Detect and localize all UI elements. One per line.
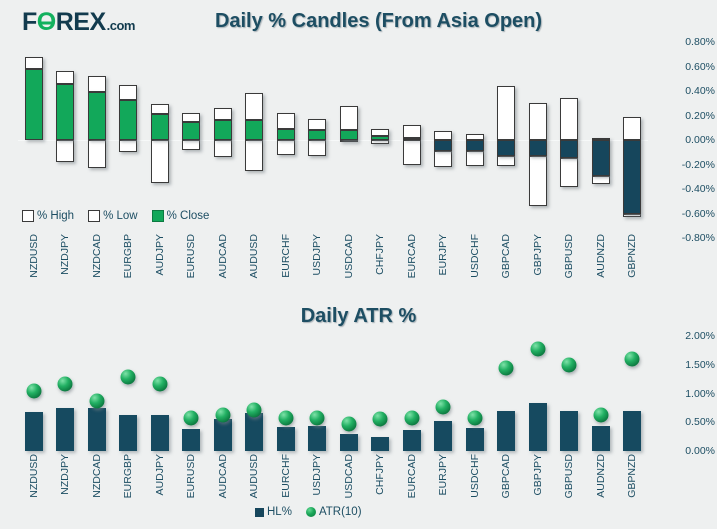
candle-high-segment xyxy=(25,57,43,69)
bottom-chart-title: Daily ATR % xyxy=(0,305,717,328)
candle-close-body xyxy=(560,140,578,158)
atr-marker xyxy=(467,410,482,425)
candle xyxy=(340,42,358,238)
candle-high-segment xyxy=(403,125,421,137)
candle-close-body xyxy=(497,140,515,156)
hl-percent-bar xyxy=(214,419,232,451)
hl-percent-bar xyxy=(466,428,484,451)
legend-swatch-icon xyxy=(306,507,316,517)
atr-marker xyxy=(26,384,41,399)
x-axis-tick-label: EURUSD xyxy=(185,234,197,278)
candle xyxy=(308,42,326,238)
hl-percent-bar xyxy=(277,427,295,451)
candle-low-segment xyxy=(182,140,200,150)
daily-percent-candles-plot xyxy=(18,42,648,238)
y-axis-tick-label: -0.80% xyxy=(682,232,715,244)
top-chart-x-axis: NZDUSDNZDJPYNZDCADEURGBPAUDJPYEURUSDAUDC… xyxy=(18,232,648,294)
candle-low-segment xyxy=(466,151,484,166)
legend-label: ATR(10) xyxy=(319,506,362,518)
candle-low-segment xyxy=(88,140,106,168)
top-chart-y-axis: 0.80%0.60%0.40%0.20%0.00%-0.20%-0.40%-0.… xyxy=(660,42,715,238)
candle-low-segment xyxy=(308,140,326,156)
candle-close-body xyxy=(371,136,389,140)
x-axis-tick-label: GBPUSD xyxy=(563,454,575,498)
candle xyxy=(88,42,106,238)
x-axis-tick-label: GBPJPY xyxy=(532,234,544,275)
candle-low-segment xyxy=(592,176,610,185)
atr-marker xyxy=(89,393,104,408)
x-axis-tick-label: GBPCAD xyxy=(500,454,512,498)
y-axis-tick-label: 0.60% xyxy=(685,61,715,73)
x-axis-tick-label: GBPJPY xyxy=(532,454,544,495)
candle-high-segment xyxy=(371,129,389,136)
y-axis-tick-label: 0.50% xyxy=(685,416,715,428)
candle-high-segment xyxy=(277,113,295,129)
x-axis-tick-label: USDCHF xyxy=(469,454,481,498)
y-axis-tick-label: 1.00% xyxy=(685,388,715,400)
legend-swatch-icon xyxy=(22,210,34,222)
candle-high-segment xyxy=(151,104,169,114)
x-axis-tick-label: NZDUSD xyxy=(28,454,40,498)
x-axis-tick-label: EURJPY xyxy=(437,234,449,275)
candle-close-body xyxy=(529,140,547,156)
candle-high-segment xyxy=(529,103,547,140)
x-axis-tick-label: GBPCAD xyxy=(500,234,512,278)
bottom-chart-y-axis: 2.00%1.50%1.00%0.50%0.00% xyxy=(660,336,715,451)
candle-close-body xyxy=(466,140,484,151)
legend-swatch-icon xyxy=(88,210,100,222)
hl-percent-bar xyxy=(340,434,358,451)
hl-percent-bar xyxy=(371,437,389,451)
legend-label: HL% xyxy=(267,506,292,518)
top-chart-legend: % High% Low% Close xyxy=(22,210,223,222)
candle-high-segment xyxy=(245,93,263,120)
y-axis-tick-label: 0.80% xyxy=(685,36,715,48)
hl-percent-bar xyxy=(151,415,169,451)
legend-item: % High xyxy=(22,210,74,222)
x-axis-tick-label: AUDCAD xyxy=(217,234,229,278)
candle-high-segment xyxy=(88,76,106,92)
atr-marker xyxy=(184,410,199,425)
x-axis-tick-label: USDJPY xyxy=(311,234,323,275)
legend-label: % Close xyxy=(167,210,210,222)
candle xyxy=(25,42,43,238)
hl-percent-bar xyxy=(560,411,578,451)
y-axis-tick-label: 1.50% xyxy=(685,359,715,371)
candle xyxy=(623,42,641,238)
candle xyxy=(56,42,74,238)
y-axis-tick-label: 0.20% xyxy=(685,110,715,122)
y-axis-tick-label: -0.60% xyxy=(682,208,715,220)
hl-percent-bar xyxy=(182,429,200,451)
x-axis-tick-label: EURCHF xyxy=(280,234,292,278)
candle-low-segment xyxy=(56,140,74,162)
legend-swatch-icon xyxy=(152,210,164,222)
candle-close-body xyxy=(403,138,421,140)
candle-low-segment xyxy=(371,140,389,144)
legend-label: % Low xyxy=(103,210,138,222)
candle xyxy=(119,42,137,238)
candle-close-body xyxy=(245,120,263,140)
x-axis-tick-label: NZDCAD xyxy=(91,234,103,278)
candle xyxy=(214,42,232,238)
candle-high-segment xyxy=(497,86,515,140)
hl-percent-bar xyxy=(623,411,641,451)
candle-close-body xyxy=(277,129,295,140)
candle-close-body xyxy=(182,122,200,140)
candle-close-body xyxy=(119,100,137,140)
atr-marker xyxy=(341,416,356,431)
candle-low-segment xyxy=(529,156,547,206)
zero-gridline xyxy=(18,140,648,141)
candle-high-segment xyxy=(340,106,358,131)
candle-low-segment xyxy=(434,151,452,167)
x-axis-tick-label: AUDUSD xyxy=(248,234,260,278)
x-axis-tick-label: USDCAD xyxy=(343,234,355,278)
y-axis-tick-label: -0.20% xyxy=(682,159,715,171)
candle-close-body xyxy=(308,130,326,140)
candle-low-segment xyxy=(403,140,421,165)
candle-low-segment xyxy=(245,140,263,171)
candle-close-body xyxy=(151,114,169,140)
candle-high-segment xyxy=(182,113,200,122)
candle-high-segment xyxy=(560,98,578,140)
x-axis-tick-label: NZDJPY xyxy=(59,454,71,495)
candle-close-body xyxy=(88,92,106,140)
x-axis-tick-label: EURGBP xyxy=(122,234,134,278)
x-axis-tick-label: CHFJPY xyxy=(374,234,386,275)
x-axis-tick-label: USDCAD xyxy=(343,454,355,498)
hl-percent-bar xyxy=(245,413,263,451)
x-axis-tick-label: GBPNZD xyxy=(626,234,638,278)
candle xyxy=(560,42,578,238)
x-axis-tick-label: EURCAD xyxy=(406,234,418,278)
atr-marker xyxy=(593,408,608,423)
x-axis-tick-label: NZDCAD xyxy=(91,454,103,498)
atr-marker xyxy=(562,357,577,372)
x-axis-tick-label: EURJPY xyxy=(437,454,449,495)
y-axis-tick-label: 0.00% xyxy=(685,134,715,146)
legend-label: % High xyxy=(37,210,74,222)
candle-low-segment xyxy=(119,140,137,152)
atr-marker xyxy=(247,402,262,417)
candle-low-segment xyxy=(560,158,578,186)
x-axis-tick-label: CHFJPY xyxy=(374,454,386,495)
candle-high-segment xyxy=(214,108,232,120)
atr-marker xyxy=(373,412,388,427)
hl-percent-bar xyxy=(25,412,43,451)
candle-close-body xyxy=(214,120,232,140)
candle-close-body xyxy=(340,130,358,140)
atr-marker xyxy=(625,352,640,367)
candle-high-segment xyxy=(56,71,74,83)
candle xyxy=(529,42,547,238)
x-axis-tick-label: AUDNZD xyxy=(595,234,607,278)
candle-high-segment xyxy=(434,131,452,140)
candle-low-segment xyxy=(151,140,169,183)
legend-item: % Close xyxy=(152,210,210,222)
candle-high-segment xyxy=(623,117,641,140)
y-axis-tick-label: 2.00% xyxy=(685,330,715,342)
x-axis-tick-label: NZDUSD xyxy=(28,234,40,278)
atr-marker xyxy=(310,411,325,426)
x-axis-tick-label: AUDJPY xyxy=(154,234,166,275)
candle-low-segment xyxy=(623,214,641,218)
candle-low-segment xyxy=(214,140,232,157)
x-axis-tick-label: AUDNZD xyxy=(595,454,607,498)
x-axis-tick-label: AUDUSD xyxy=(248,454,260,498)
x-axis-tick-label: USDJPY xyxy=(311,454,323,495)
hl-percent-bar xyxy=(497,411,515,451)
candle xyxy=(151,42,169,238)
x-axis-tick-label: GBPUSD xyxy=(563,234,575,278)
candle xyxy=(371,42,389,238)
atr-marker xyxy=(215,407,230,422)
hl-percent-bar xyxy=(403,430,421,451)
atr-marker xyxy=(530,341,545,356)
x-axis-tick-label: EURCHF xyxy=(280,454,292,498)
candle xyxy=(403,42,421,238)
y-axis-tick-label: -0.40% xyxy=(682,183,715,195)
hl-percent-bar xyxy=(434,421,452,451)
candle xyxy=(434,42,452,238)
daily-atr-percent-plot xyxy=(18,336,648,451)
candle-close-body xyxy=(592,140,610,176)
candle-high-segment xyxy=(119,85,137,100)
hl-percent-bar xyxy=(529,403,547,451)
candle-low-segment xyxy=(277,140,295,155)
atr-marker xyxy=(436,399,451,414)
atr-marker xyxy=(121,370,136,385)
x-axis-tick-label: AUDJPY xyxy=(154,454,166,495)
hl-percent-bar xyxy=(119,415,137,451)
candle-high-segment xyxy=(308,119,326,130)
x-axis-tick-label: AUDCAD xyxy=(217,454,229,498)
candle xyxy=(592,42,610,238)
atr-marker xyxy=(499,361,514,376)
candle-low-segment xyxy=(497,156,515,166)
atr-marker xyxy=(278,411,293,426)
x-axis-tick-label: EURCAD xyxy=(406,454,418,498)
candle xyxy=(245,42,263,238)
atr-marker xyxy=(58,376,73,391)
x-axis-tick-label: EURUSD xyxy=(185,454,197,498)
candle-close-body xyxy=(56,84,74,140)
hl-percent-bar xyxy=(56,408,74,451)
candle-close-body xyxy=(623,140,641,214)
top-chart-title: Daily % Candles (From Asia Open) xyxy=(20,10,717,33)
y-axis-tick-label: 0.40% xyxy=(685,85,715,97)
candle-close-body xyxy=(25,69,43,140)
legend-item: % Low xyxy=(88,210,138,222)
legend-item: ATR(10) xyxy=(306,506,362,518)
x-axis-tick-label: EURGBP xyxy=(122,454,134,498)
atr-marker xyxy=(404,410,419,425)
atr-marker xyxy=(152,376,167,391)
hl-percent-bar xyxy=(88,408,106,451)
legend-item: HL% xyxy=(255,506,292,518)
candle xyxy=(182,42,200,238)
candle-low-segment xyxy=(340,140,358,142)
hl-percent-bar xyxy=(592,426,610,451)
candle-close-body xyxy=(434,140,452,151)
x-axis-tick-label: GBPNZD xyxy=(626,454,638,498)
x-axis-tick-label: USDCHF xyxy=(469,234,481,278)
candle xyxy=(466,42,484,238)
bottom-chart-legend: HL%ATR(10) xyxy=(255,506,376,518)
legend-swatch-icon xyxy=(255,508,264,517)
bottom-chart-x-axis: NZDUSDNZDJPYNZDCADEURGBPAUDJPYEURUSDAUDC… xyxy=(18,452,648,504)
candle xyxy=(277,42,295,238)
y-axis-tick-label: 0.00% xyxy=(685,445,715,457)
candle xyxy=(497,42,515,238)
hl-percent-bar xyxy=(308,426,326,451)
x-axis-tick-label: NZDJPY xyxy=(59,234,71,275)
